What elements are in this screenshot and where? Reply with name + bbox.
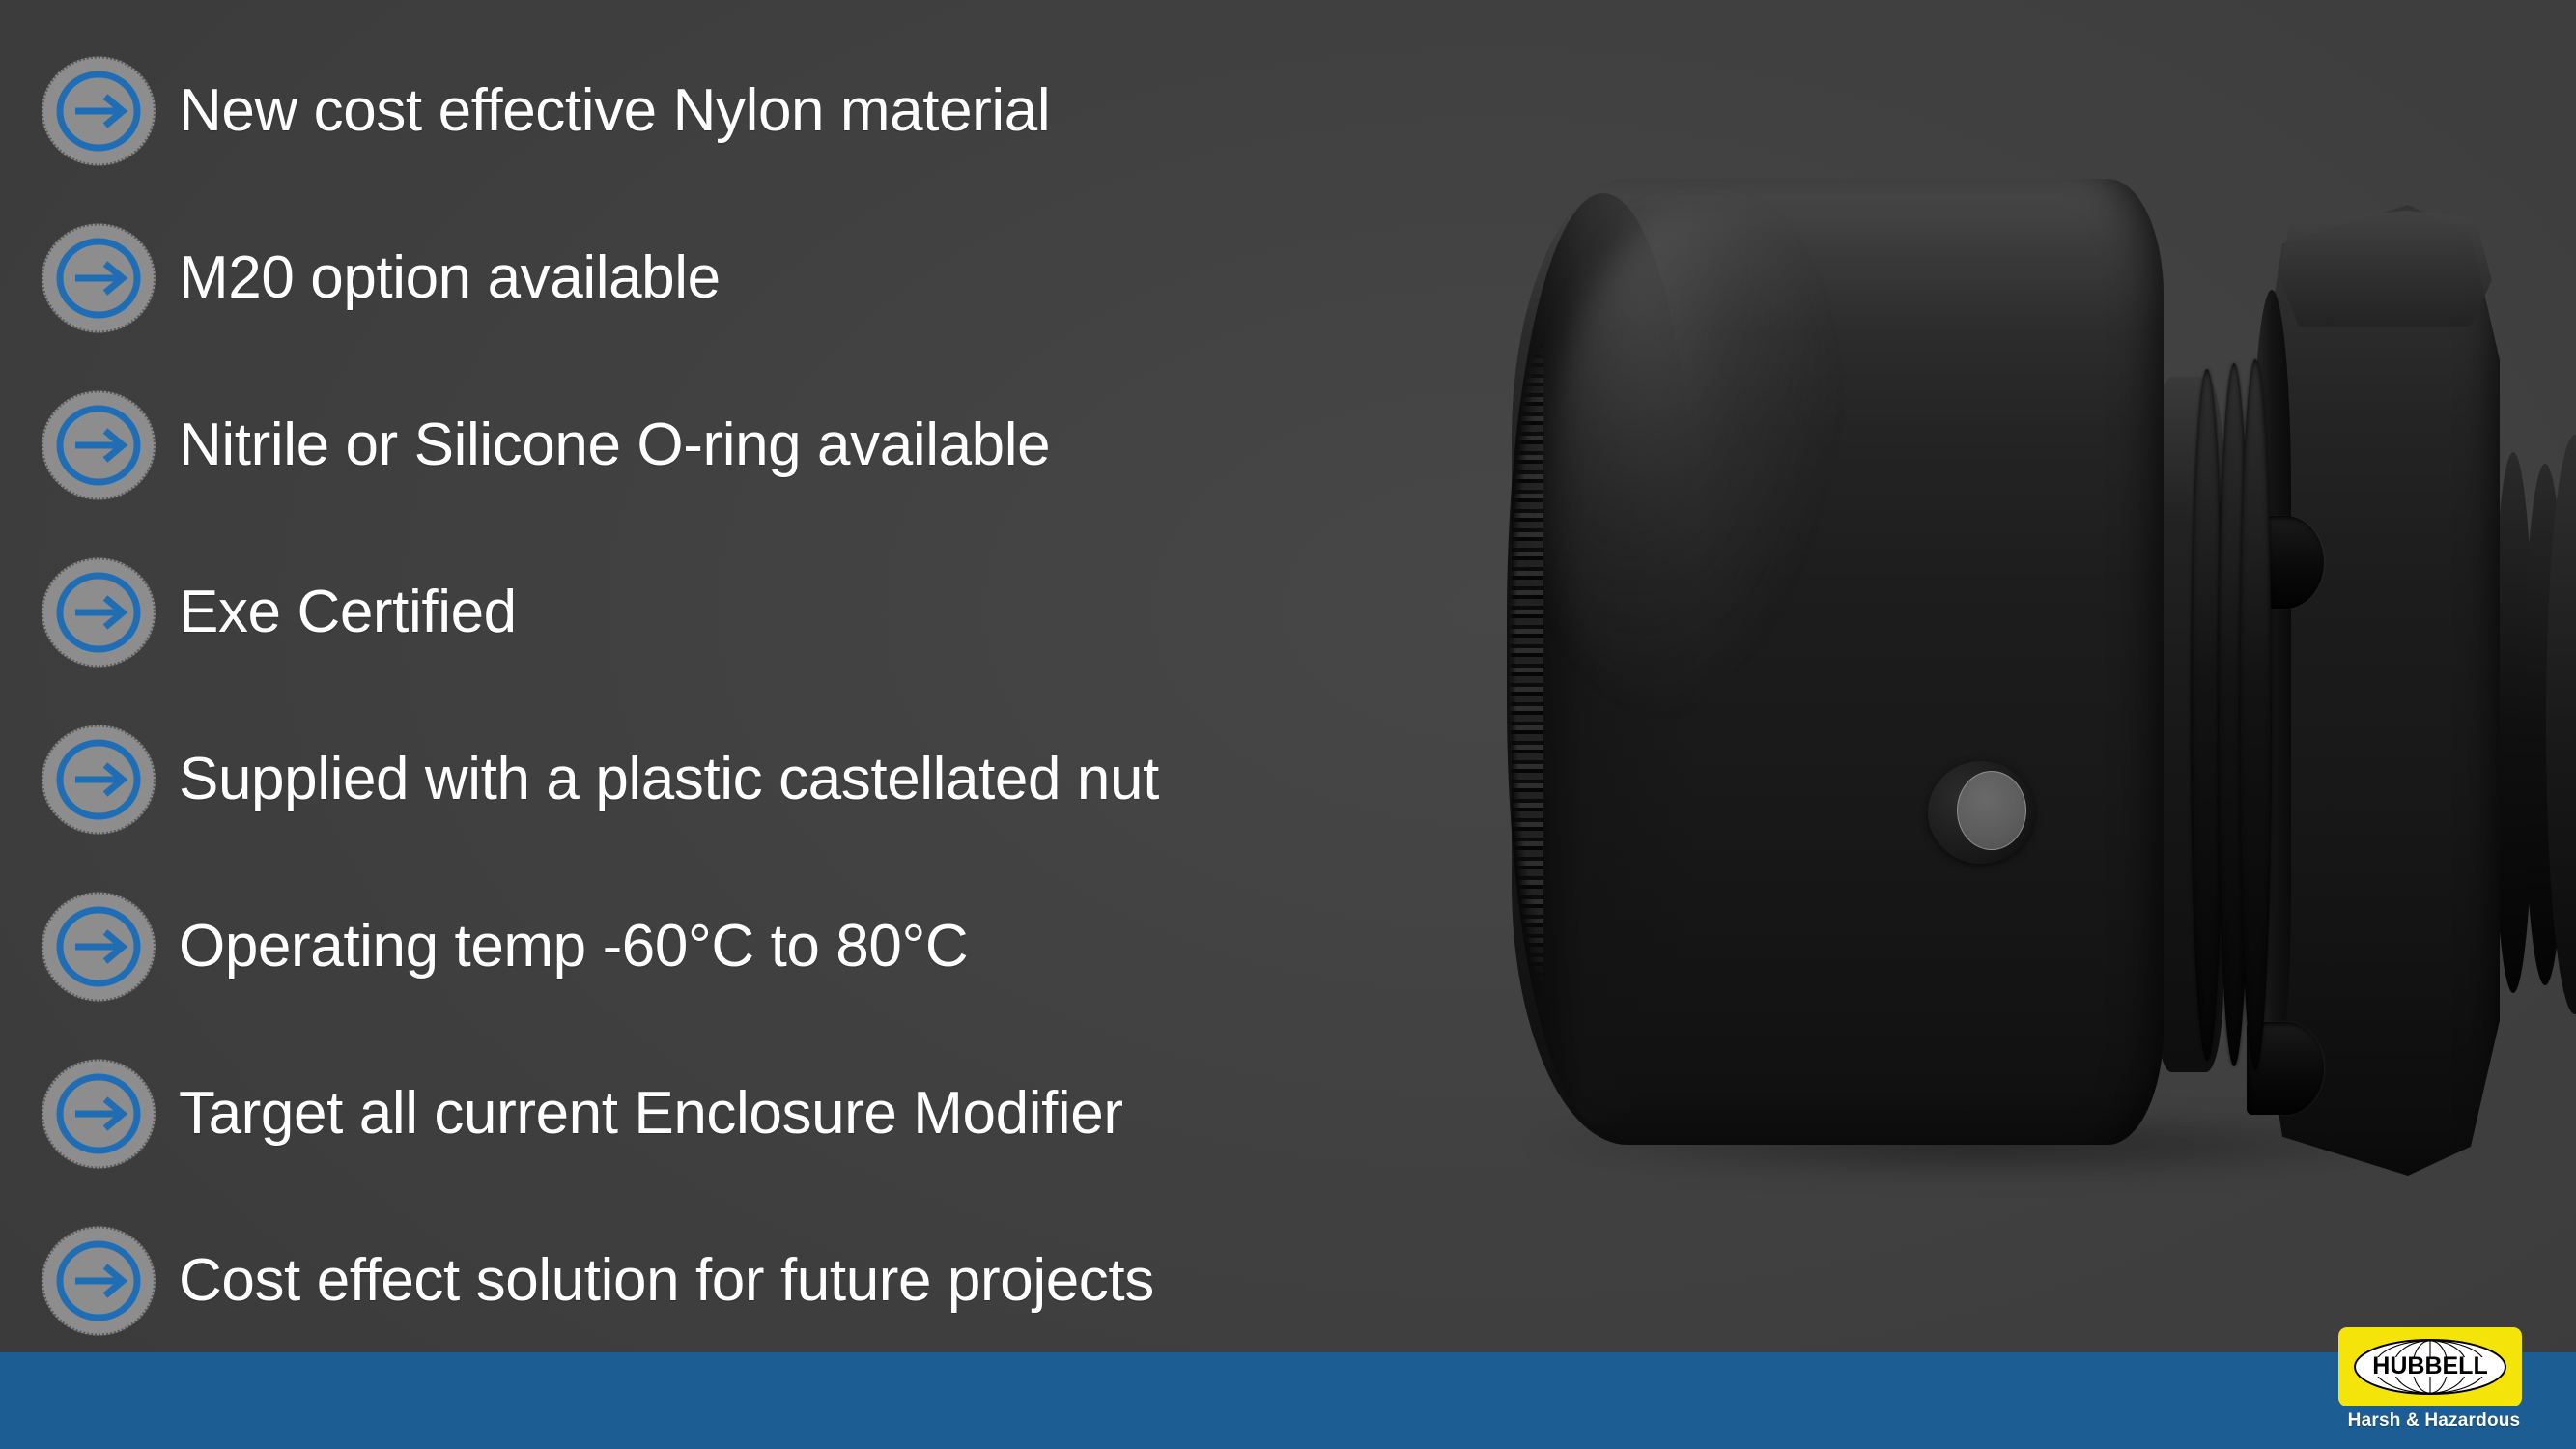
hubbell-wordmark: HUBBELL [2372, 1352, 2487, 1379]
hubbell-logo: HUBBELL Harsh & Hazardous [2338, 1327, 2532, 1441]
bullet-label: Operating temp -60°C to 80°C [179, 915, 968, 978]
castellated-hex-nut [2258, 205, 2500, 1176]
oring-groove-1 [2191, 369, 2223, 1061]
product-image [1410, 145, 2576, 1179]
bullet-item: Exe Certified [0, 528, 1430, 696]
bullet-item: Supplied with a plastic castellated nut [0, 696, 1430, 863]
hex-nut-left-rim [2252, 290, 2291, 1092]
tail-oring-outer [2492, 452, 2534, 993]
arrow-right-circle-icon [32, 53, 165, 169]
arrow-right-circle-icon [32, 1223, 165, 1339]
arrow-right-circle-icon [32, 722, 165, 838]
bullet-item: M20 option available [0, 194, 1430, 361]
bullet-item: Operating temp -60°C to 80°C [0, 863, 1430, 1030]
arrow-right-circle-icon [32, 889, 165, 1005]
knurled-rim [1495, 213, 1543, 1111]
hubbell-logo-badge: HUBBELL [2338, 1327, 2522, 1406]
centre-pin [1957, 771, 2026, 850]
arrow-right-circle-icon [32, 554, 165, 670]
bullet-label: Supplied with a plastic castellated nut [179, 748, 1159, 810]
bullet-item: Cost effect solution for future projects [0, 1197, 1430, 1364]
bullet-label: Exe Certified [179, 581, 517, 643]
tail-oring-inner [2523, 464, 2567, 985]
body-specular-highlight [1545, 213, 1835, 715]
castellation-slot-top [2247, 516, 2324, 609]
tail-thread-section [2546, 435, 2576, 1014]
bullet-label: Nitrile or Silicone O-ring available [179, 413, 1050, 476]
bullet-label: M20 option available [179, 246, 721, 309]
bullet-item: Nitrile or Silicone O-ring available [0, 361, 1430, 528]
hex-nut-top-face [2278, 211, 2492, 327]
product-drop-shadow [1526, 1111, 2444, 1179]
oring-groove-3 [2239, 359, 2272, 1070]
logo-tagline: Harsh & Hazardous [2342, 1410, 2526, 1432]
hubbell-globe-icon: HUBBELL [2347, 1335, 2513, 1399]
centre-boss [1928, 761, 2034, 864]
arrow-right-circle-icon [32, 220, 165, 336]
arrow-right-circle-icon [32, 1056, 165, 1172]
oring-groove-2 [2218, 363, 2250, 1066]
slide-canvas: New cost effective Nylon material M20 op… [0, 0, 2576, 1449]
gland-front-cap [1507, 193, 1700, 1125]
gland-body [1512, 179, 2164, 1145]
feature-bullet-list: New cost effective Nylon material M20 op… [0, 0, 1430, 1352]
castellation-slot-bottom [2247, 1022, 2324, 1115]
threaded-spigot [2154, 377, 2223, 1072]
bullet-label: Cost effect solution for future projects [179, 1249, 1154, 1312]
bullet-label: New cost effective Nylon material [179, 79, 1050, 142]
bullet-item: Target all current Enclosure Modifier [0, 1030, 1430, 1197]
footer-bar [0, 1352, 2576, 1449]
arrow-right-circle-icon [32, 387, 165, 503]
bullet-label: Target all current Enclosure Modifier [179, 1082, 1123, 1145]
bullet-item: New cost effective Nylon material [0, 27, 1430, 194]
